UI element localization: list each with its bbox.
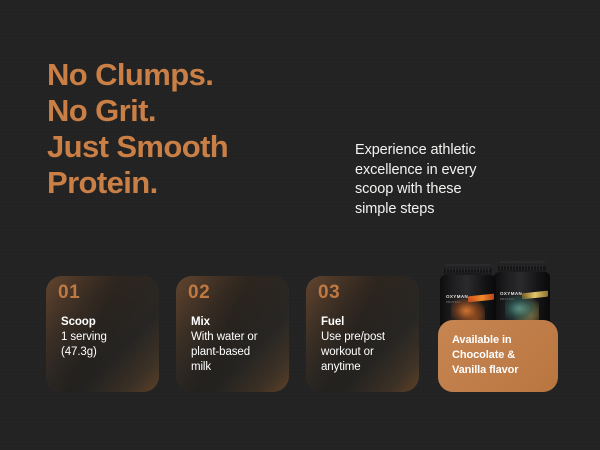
step-description: With water or plant-based milk [191, 330, 283, 375]
step-number: 01 [58, 282, 80, 304]
tub-artwork [505, 296, 539, 322]
step-title: Scoop [61, 315, 153, 330]
subheading-line-1: Experience athletic [355, 141, 555, 161]
step-card-scoop: 01 Scoop 1 serving (47.3g) [46, 276, 159, 392]
step-card-mix: 02 Mix With water or plant-based milk [176, 276, 289, 392]
badge-line-1: Available in [452, 333, 550, 348]
step-card-fuel: 03 Fuel Use pre/post workout or anytime [306, 276, 419, 392]
step-body: Scoop 1 serving (47.3g) [61, 315, 153, 360]
tub-body: OXYMAN PROTEIN [494, 272, 550, 327]
step-description: 1 serving (47.3g) [61, 330, 153, 360]
step-desc-line-2: plant-based [191, 345, 283, 360]
subheading-line-2: excellence in every [355, 161, 555, 181]
step-desc-line-1: Use pre/post [321, 330, 413, 345]
promo-banner: No Clumps. No Grit. Just Smooth Protein.… [0, 0, 600, 450]
step-desc-line-2: workout or [321, 345, 413, 360]
step-description: Use pre/post workout or anytime [321, 330, 413, 375]
headline-line-4: Protein. [47, 165, 228, 201]
page-title: No Clumps. No Grit. Just Smooth Protein. [47, 57, 228, 201]
headline-line-3: Just Smooth [47, 129, 228, 165]
step-desc-line-3: anytime [321, 360, 413, 375]
step-desc-line-1: 1 serving [61, 330, 153, 345]
step-desc-line-3: milk [191, 360, 283, 375]
step-desc-line-1: With water or [191, 330, 283, 345]
subheading-text: Experience athletic excellence in every … [355, 141, 555, 219]
step-title: Mix [191, 315, 283, 330]
headline-line-1: No Clumps. [47, 57, 228, 93]
headline-line-2: No Grit. [47, 93, 228, 129]
step-number: 03 [318, 282, 340, 304]
flavor-availability-badge: Available in Chocolate & Vanilla flavor [438, 320, 558, 392]
step-body: Mix With water or plant-based milk [191, 315, 283, 375]
step-title: Fuel [321, 315, 413, 330]
badge-line-3: Vanilla flavor [452, 363, 550, 378]
product-tub-vanilla: OXYMAN PROTEIN [494, 261, 550, 327]
badge-text: Available in Chocolate & Vanilla flavor [452, 333, 550, 378]
step-desc-line-2: (47.3g) [61, 345, 153, 360]
subheading-line-4: simple steps [355, 200, 555, 220]
badge-line-2: Chocolate & [452, 348, 550, 363]
step-number: 02 [188, 282, 210, 304]
subheading-line-3: scoop with these [355, 180, 555, 200]
step-body: Fuel Use pre/post workout or anytime [321, 315, 413, 375]
